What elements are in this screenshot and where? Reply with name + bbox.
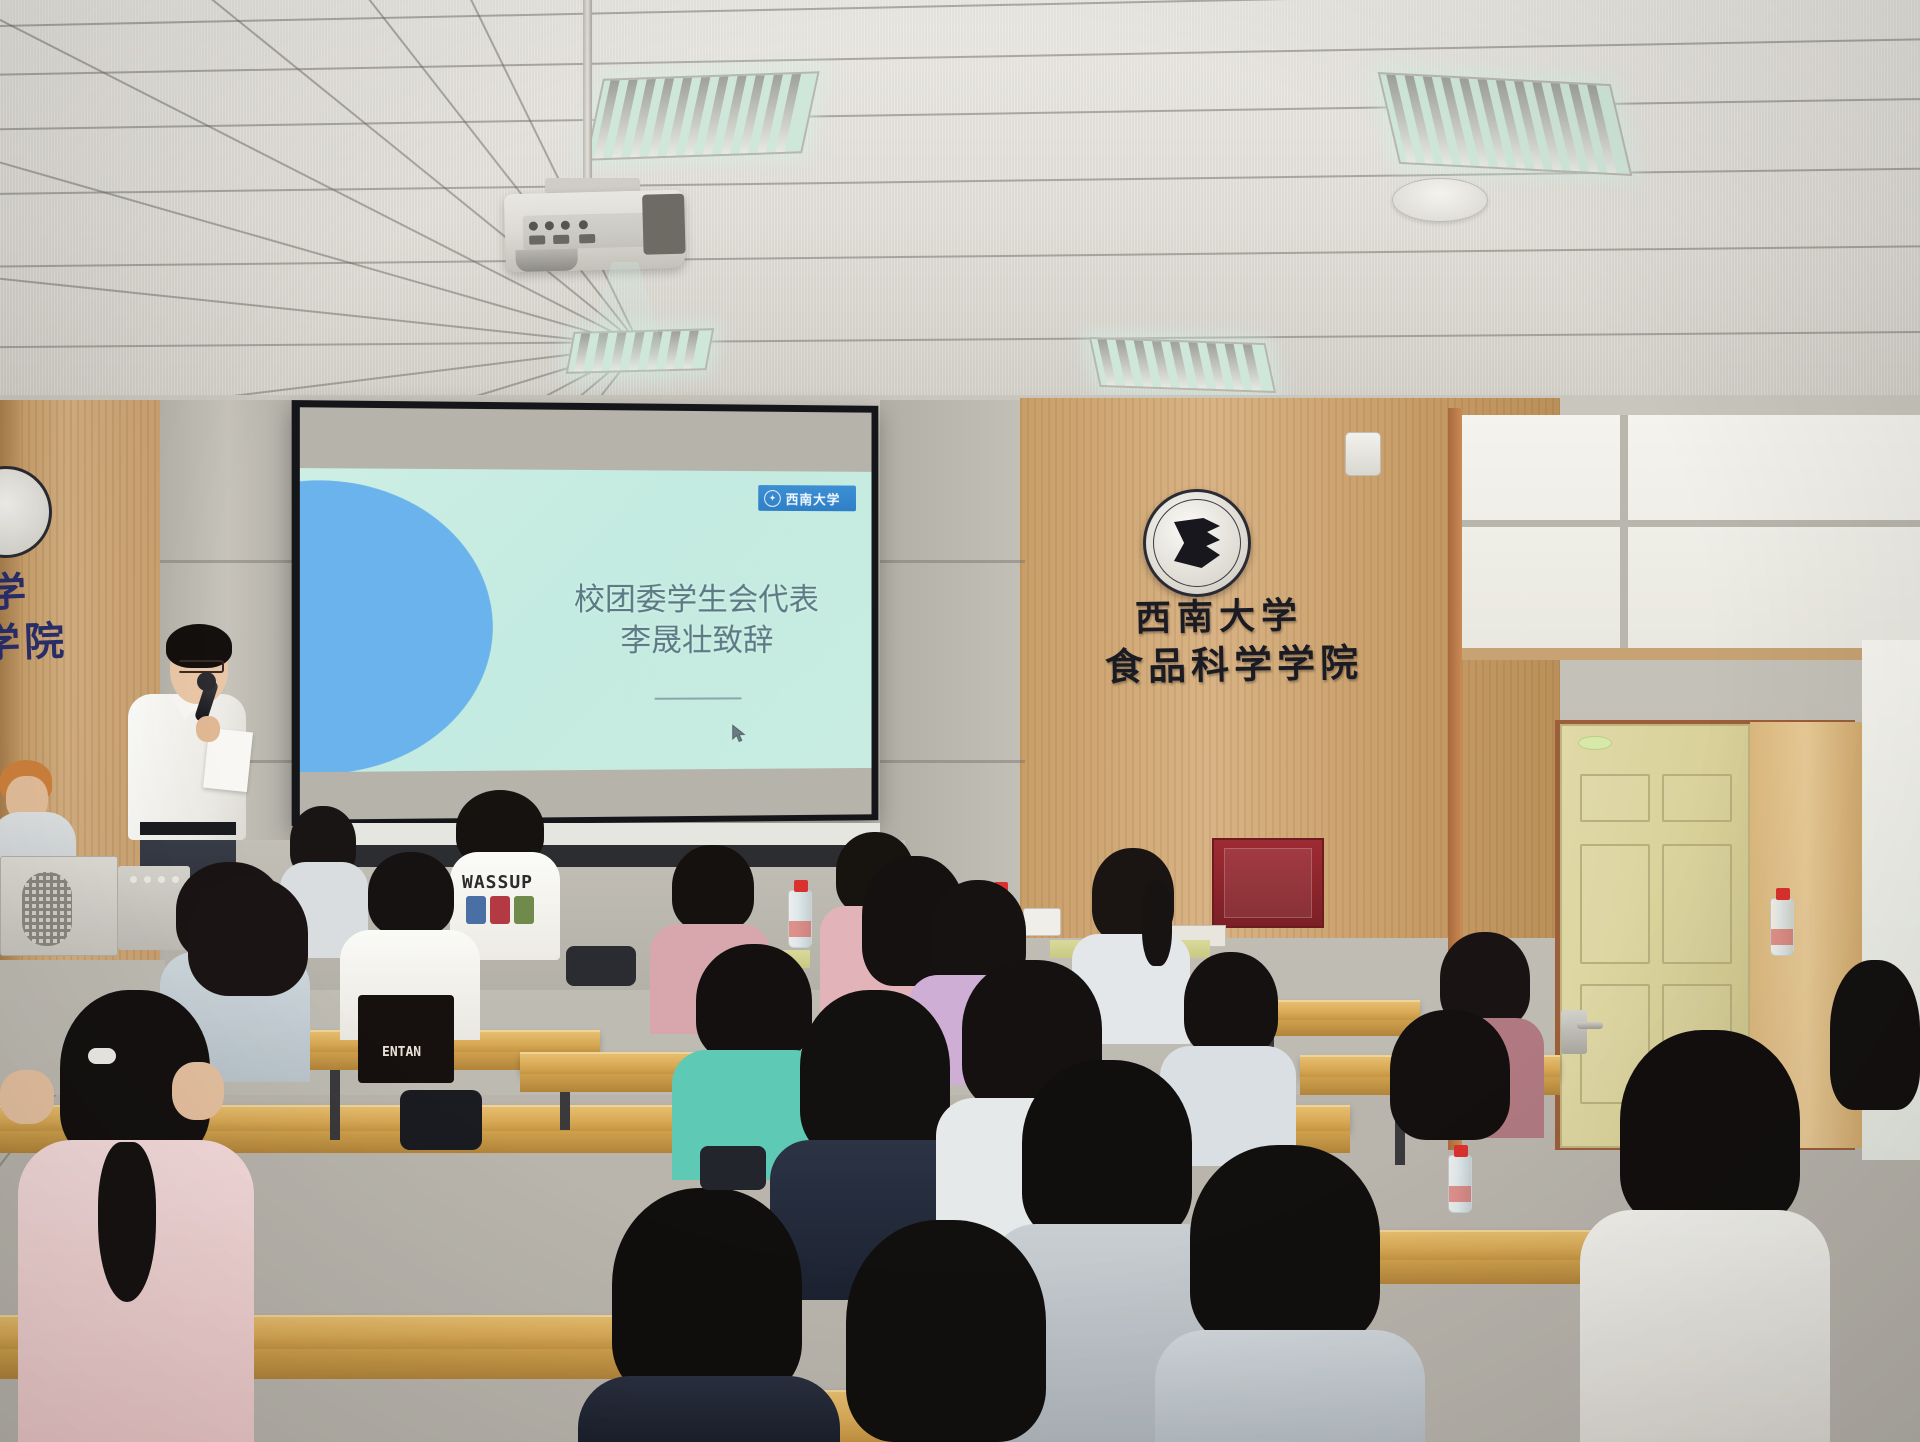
ceiling-tile-line	[0, 0, 1920, 32]
student-torso-foreground	[1155, 1330, 1425, 1442]
projection-screen: ✦ 西南大学 校团委学生会代表 李晟壮致辞	[292, 400, 879, 826]
bag	[566, 946, 636, 986]
window-mullion	[1620, 415, 1628, 655]
lecture-hall-scene: 学 学院 西南大学 食品科学学院 ✦ 西南大学	[0, 0, 1920, 1442]
ponytail	[98, 1142, 156, 1302]
tshirt-print	[358, 995, 454, 1083]
light-louver	[1224, 344, 1243, 390]
ceiling-perspective-line	[0, 0, 640, 347]
light-louver	[683, 331, 699, 369]
slide-divider-rule	[655, 697, 742, 699]
university-logo-badge: ✦ 西南大学	[758, 485, 856, 511]
equipment-knobs	[130, 876, 186, 886]
slide-title-line2: 李晟壮致辞	[533, 621, 859, 662]
ceiling-perspective-line	[0, 0, 640, 347]
tshirt-character	[490, 896, 510, 924]
student-head	[1022, 1060, 1192, 1240]
water-bottle	[788, 890, 812, 948]
slide-title: 校团委学生会代表 李晟壮致辞	[533, 580, 859, 662]
panel-seam	[880, 760, 1025, 763]
water-bottle	[1770, 898, 1794, 956]
ceiling-perspective-line	[0, 0, 641, 347]
ceiling-grid	[0, 0, 1920, 420]
desk-leg	[330, 1070, 340, 1140]
light-louver	[1243, 344, 1262, 390]
student-head	[188, 876, 308, 996]
presenter-hand	[196, 716, 220, 742]
student-torso-foreground	[1580, 1210, 1830, 1442]
student-hand	[0, 1070, 54, 1124]
light-louver	[1152, 341, 1171, 387]
projector-port-panel	[523, 213, 652, 250]
tshirt-print-text: ENTAN	[382, 1045, 421, 1060]
student-head	[696, 944, 812, 1062]
wall-plaque-line2: 食品科学学院	[1105, 632, 1364, 691]
university-logo-text: 西南大学	[786, 489, 841, 508]
ceiling-light-fixture	[1089, 337, 1276, 393]
wall-light-switch[interactable]	[1023, 908, 1061, 936]
light-louver	[1134, 340, 1153, 386]
cabinet-door[interactable]	[1224, 848, 1312, 918]
backpack	[400, 1090, 482, 1150]
ceiling-tile-line	[0, 165, 1920, 198]
presenter-glasses-icon	[178, 660, 224, 673]
student-head	[672, 845, 754, 931]
tshirt-character	[514, 896, 534, 924]
student-head-foreground	[1620, 1030, 1800, 1226]
ceiling-perspective-line	[0, 0, 641, 347]
window-sill	[1455, 648, 1920, 660]
ponytail	[1142, 880, 1172, 966]
ceiling-light-fixture	[1378, 72, 1633, 176]
university-emblem-icon: ✦	[764, 490, 781, 507]
ceiling-light-fixture	[585, 71, 819, 160]
crest-mark-icon	[1174, 518, 1220, 568]
presentation-slide: ✦ 西南大学 校团委学生会代表 李晟壮致辞	[300, 468, 872, 772]
smoke-detector-icon	[1392, 178, 1488, 222]
student-head	[800, 990, 950, 1158]
projector-mount-pole	[583, 0, 592, 190]
ceiling-perspective-line	[25, 0, 641, 346]
speaker-grille	[22, 872, 72, 946]
door-handle[interactable]	[1561, 1010, 1587, 1054]
student-torso-foreground	[578, 1376, 840, 1442]
college-crest-emblem	[1143, 489, 1251, 597]
ceiling-tile-line	[0, 329, 1920, 350]
panel-seam	[880, 560, 1025, 563]
slide-title-line1: 校团委学生会代表	[533, 580, 859, 621]
bag	[700, 1146, 766, 1190]
microphone-head	[197, 672, 216, 691]
light-louver	[1170, 342, 1189, 388]
window-mullion	[1455, 520, 1920, 527]
student-head	[368, 852, 454, 936]
slide-decorative-circle	[300, 479, 493, 772]
ceiling	[0, 0, 1920, 420]
tshirt-character	[466, 896, 486, 924]
student-head-foreground	[846, 1220, 1046, 1442]
light-louver	[1188, 342, 1207, 388]
tshirt-graphic-text: WASSUP	[462, 872, 533, 893]
light-louver	[1206, 343, 1225, 389]
ceiling-tile-line	[0, 34, 1920, 80]
student-head-foreground	[612, 1188, 802, 1398]
projector-lens	[515, 248, 578, 272]
light-louver	[1097, 339, 1116, 385]
presenter-belt	[140, 822, 236, 835]
hair-tie	[88, 1048, 116, 1064]
student-head	[1184, 952, 1278, 1056]
window-upper	[1455, 415, 1920, 655]
water-bottle	[1448, 1155, 1472, 1213]
screen-surface: ✦ 西南大学 校团委学生会代表 李晟壮致辞	[300, 407, 872, 819]
ceiling-tile-line	[0, 94, 1920, 134]
left-plaque-line2: 学院	[0, 608, 69, 669]
projector-vent	[642, 194, 686, 255]
wall-sensor-icon	[1345, 432, 1381, 476]
student-head	[1390, 1010, 1510, 1140]
ceiling-projector	[504, 190, 686, 273]
student-hand	[172, 1062, 224, 1120]
panel-seam	[160, 560, 310, 563]
student-head-foreground	[1190, 1145, 1380, 1345]
light-louver	[1116, 340, 1135, 386]
student-head	[1830, 960, 1920, 1110]
ceiling-tile-line	[0, 243, 1920, 270]
door-sticker-icon	[1578, 736, 1612, 750]
